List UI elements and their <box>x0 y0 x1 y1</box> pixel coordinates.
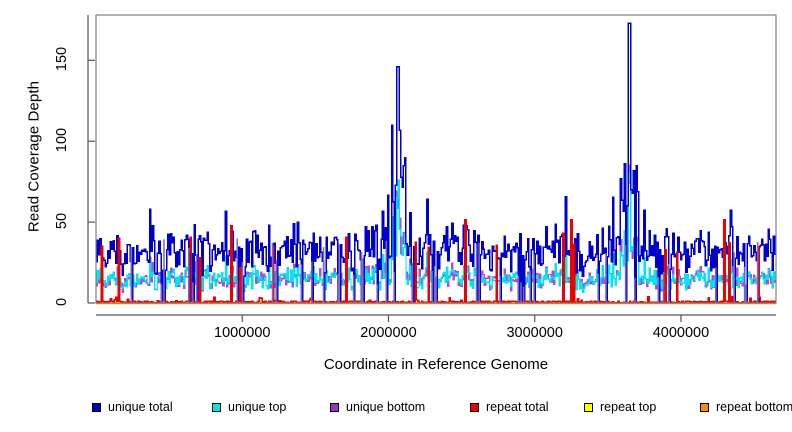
x-tick-label: 2000000 <box>328 325 448 341</box>
coverage-depth-figure: Read Coverage Depth Coordinate in Refere… <box>0 0 792 432</box>
legend-swatch-icon <box>212 403 221 412</box>
x-tick-label: 4000000 <box>621 325 741 341</box>
legend-label: repeat bottom <box>716 400 792 414</box>
series-unique_total <box>96 23 776 303</box>
legend-label: unique bottom <box>346 400 425 414</box>
x-tick-label: 3000000 <box>475 325 595 341</box>
x-tick-label: 1000000 <box>182 325 302 341</box>
chart-legend: unique totalunique topunique bottomrepea… <box>0 396 792 420</box>
legend-item-unique-top: unique top <box>212 396 286 418</box>
legend-item-repeat-bottom: repeat bottom <box>700 396 792 418</box>
legend-label: unique top <box>228 400 286 414</box>
y-tick-label: 50 <box>54 199 70 243</box>
legend-label: repeat top <box>600 400 656 414</box>
legend-item-repeat-total: repeat total <box>470 396 549 418</box>
y-tick-label: 100 <box>54 118 70 162</box>
legend-swatch-icon <box>330 403 339 412</box>
legend-item-repeat-top: repeat top <box>584 396 656 418</box>
legend-swatch-icon <box>92 403 101 412</box>
legend-swatch-icon <box>470 403 479 412</box>
y-tick-label: 150 <box>54 37 70 81</box>
legend-label: unique total <box>108 400 173 414</box>
legend-item-unique-total: unique total <box>92 396 173 418</box>
legend-swatch-icon <box>584 403 593 412</box>
legend-swatch-icon <box>700 403 709 412</box>
y-tick-label: 0 <box>54 280 70 324</box>
legend-label: repeat total <box>486 400 549 414</box>
legend-item-unique-bottom: unique bottom <box>330 396 425 418</box>
